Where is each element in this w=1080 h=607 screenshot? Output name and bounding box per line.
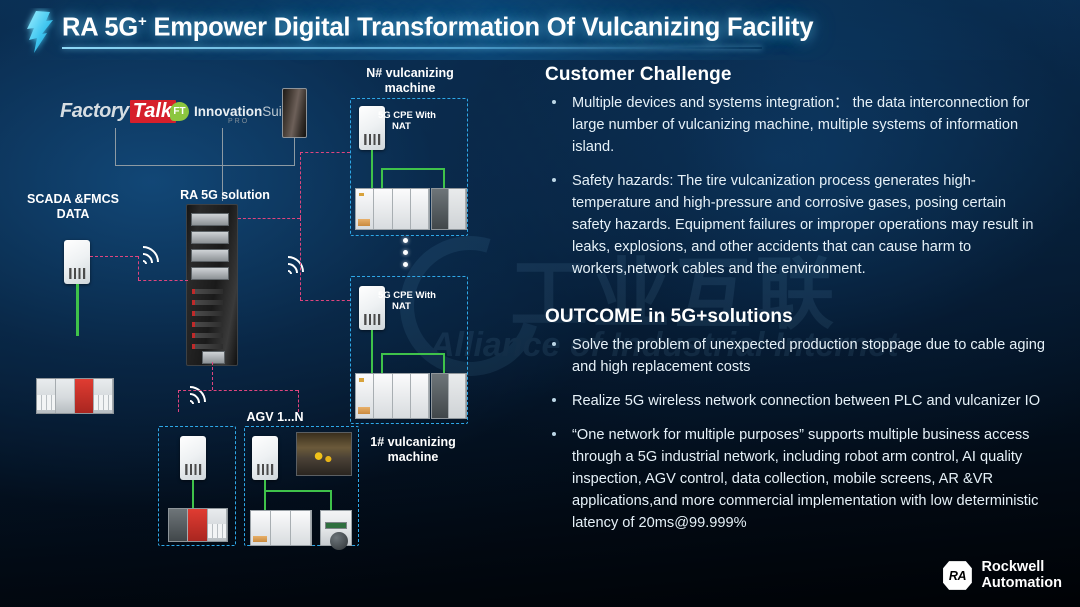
plc1-module-2 [374, 374, 392, 418]
bullet-text: Realize 5G wireless network connection b… [572, 393, 1040, 409]
rack-unit-4 [191, 267, 229, 280]
agv-1-cable [192, 480, 194, 510]
rockwell-mark-text: RA [949, 569, 966, 583]
rockwell-line2: Automation [981, 575, 1062, 591]
cpe-1-label-line1: 5G CPE With [378, 290, 436, 301]
drive-knob [330, 532, 348, 550]
vulcanizing-n-cable-v1 [371, 150, 373, 188]
rack-unit-1 [191, 213, 229, 226]
wireless-link-machines-h1 [238, 218, 300, 219]
rack-blade-1 [192, 289, 223, 294]
wireless-link-scada-h2 [138, 280, 188, 281]
scada-ethernet-cable [76, 284, 79, 336]
vulcanizing-n-io [431, 188, 467, 230]
wifi-arcs-scada [125, 236, 161, 270]
bullet-dot-icon [552, 398, 556, 402]
cpe-1-label: 5G CPE With NAT [378, 290, 468, 312]
factorytalk-factory-text: Factory [60, 100, 129, 122]
io1-segment-terminals [449, 374, 466, 418]
agvn-plc-module-2 [271, 511, 291, 545]
factorytalk-logo: FactoryTalk® [60, 100, 182, 123]
vulcanizing-1-io [431, 373, 467, 419]
controller-segment-1 [37, 379, 56, 413]
bullet-dot-icon [552, 178, 556, 182]
vulcanizing-n-line1: N# vulcanizing [366, 66, 454, 80]
vulcanizing-1-cable-v3 [443, 353, 445, 375]
io1-segment-dark [432, 374, 449, 418]
vulcanizing-1-cable-h [381, 353, 445, 355]
scada-label-line1: SCADA &FMCS [27, 192, 119, 206]
scada-fmcs-label: SCADA &FMCS DATA [8, 192, 138, 222]
agv-n-drive [320, 510, 352, 546]
rack-unit-2 [191, 231, 229, 244]
bullet-dot-icon [552, 342, 556, 346]
rack-blade-3 [192, 311, 223, 316]
agv-n-cable-v1 [264, 480, 266, 512]
wifi-a-arc-3 [167, 379, 212, 424]
outcome-list: Solve the problem of unexpected producti… [545, 334, 1045, 534]
vulcanizing-n-line2: machine [385, 81, 436, 95]
agvn-plc-module-1 [251, 511, 271, 545]
title-bar: RA 5G+ Empower Digital Transformation Of… [0, 0, 1080, 60]
controller-segment-3 [94, 379, 113, 413]
wifi-arc-3 [120, 239, 165, 284]
rack-blade-4 [192, 322, 223, 327]
connector-line-appliance-vertical [294, 138, 295, 166]
agv-photo [296, 432, 352, 476]
connector-line-ft-vertical [115, 128, 116, 166]
list-item: Multiple devices and systems integration… [545, 92, 1045, 158]
vulcanizing-n-cable-v2 [381, 168, 383, 190]
plc1-module-3 [393, 374, 411, 418]
vulcanizing-1-plc [355, 373, 430, 419]
scada-5g-cpe [64, 240, 90, 284]
ellipsis-dot-3 [403, 262, 408, 267]
wireless-link-agv-v2 [298, 390, 299, 412]
rack-unit-3 [191, 249, 229, 262]
ellipsis-dot-2 [403, 250, 408, 255]
machine-series-ellipsis [403, 238, 408, 274]
bullet-dot-icon [552, 100, 556, 104]
wireless-link-machines-h3 [300, 300, 350, 301]
section-spacer [545, 292, 1045, 306]
plc1-module-4 [411, 374, 429, 418]
vulcanizing-n-label: N# vulcanizing machine [345, 66, 475, 96]
innovationsuite-bold: Innovation [194, 104, 262, 119]
ra-5g-rack [186, 204, 238, 366]
agv1-io-terminals [208, 509, 227, 541]
bullet-text: “One network for multiple purposes” supp… [572, 427, 1038, 531]
content-column: Customer Challenge Multiple devices and … [545, 64, 1045, 546]
ft-badge-icon: FT [170, 102, 189, 121]
list-item: Realize 5G wireless network connection b… [545, 390, 1045, 412]
connector-line-is-vertical [222, 128, 223, 166]
plc1-terminal [358, 407, 370, 415]
io-segment-terminals [449, 189, 466, 229]
connector-line-horizontal [115, 165, 295, 166]
innovationsuite-label: InnovationSuite [194, 104, 293, 119]
rockwell-mark-icon: RA [942, 561, 972, 591]
drive-display [325, 522, 348, 529]
list-item: “One network for multiple purposes” supp… [545, 424, 1045, 534]
vulcanizing-1-label: 1# vulcanizing machine [348, 435, 478, 465]
plc-module-3 [393, 189, 411, 229]
wireless-link-machines-v2 [300, 218, 301, 300]
rockwell-line1: Rockwell [981, 559, 1044, 575]
agv-1-cpe [180, 436, 206, 480]
wireless-link-scada-h1 [90, 256, 138, 257]
page-title: RA 5G+ Empower Digital Transformation Of… [62, 13, 813, 43]
slide-root: RA 5G+ Empower Digital Transformation Of… [0, 0, 1080, 607]
list-item: Safety hazards: The tire vulcanization p… [545, 170, 1045, 280]
rack-blade-2 [192, 300, 223, 305]
rack-unit-bottom [202, 351, 225, 364]
wireless-link-machines-h2 [300, 152, 350, 153]
agv-1-io-block [168, 508, 228, 542]
bullet-text: Multiple devices and systems integration… [572, 95, 1030, 155]
controller-segment-2 [56, 379, 75, 413]
cpe-n-label: 5G CPE With NAT [378, 110, 468, 132]
agvn-plc-module-3 [291, 511, 311, 545]
plc-module-1 [356, 189, 374, 229]
plc1-module-1 [356, 374, 374, 418]
outcome-heading: OUTCOME in 5G+solutions [545, 306, 1045, 328]
vulcanizing-1-line2: machine [388, 450, 439, 464]
plc-terminal [358, 219, 370, 226]
rack-blade-5 [192, 333, 223, 338]
plc1-led [359, 378, 363, 382]
controller-segment-red [75, 379, 94, 413]
plc-module-2 [374, 189, 392, 229]
customer-challenge-heading: Customer Challenge [545, 64, 1045, 86]
cpe-n-label-line1: 5G CPE With [378, 110, 436, 121]
wireless-link-agv-v1 [178, 390, 179, 412]
scada-controller-block [36, 378, 114, 414]
agv1-io-red [188, 509, 207, 541]
rockwell-automation-logo: RA Rockwell Automation [942, 560, 1062, 591]
agvn-plc-terminal [253, 536, 266, 542]
vulcanizing-1-cable-v2 [381, 353, 383, 375]
vulcanizing-n-cable-h [381, 168, 445, 170]
ra-5g-solution-label: RA 5G solution [160, 188, 290, 203]
edge-server-appliance [282, 88, 307, 138]
list-item: Solve the problem of unexpected producti… [545, 334, 1045, 378]
vulcanizing-n-plc [355, 188, 430, 230]
rack-blade-6 [192, 344, 223, 349]
wireless-link-machines-v1 [300, 152, 301, 218]
bullet-text: Solve the problem of unexpected producti… [572, 337, 1045, 375]
agv-n-plc [250, 510, 312, 546]
ellipsis-dot-1 [403, 238, 408, 243]
ra-5g-glow-icon [20, 8, 60, 56]
innovationsuite-pro-label: PRO [228, 118, 249, 125]
cpe-1-label-line2: NAT [378, 301, 411, 312]
agv1-io-dark [169, 509, 188, 541]
title-underline [62, 47, 762, 49]
vulcanizing-n-cable-v3 [443, 168, 445, 190]
cpe-n-label-line2: NAT [378, 121, 411, 132]
wireless-link-agv-h1 [178, 390, 298, 391]
agv-label: AGV 1...N [215, 410, 335, 425]
agv-n-cpe [252, 436, 278, 480]
rockwell-wordmark: Rockwell Automation [981, 560, 1062, 591]
bullet-dot-icon [552, 432, 556, 436]
wifi-m-arc-3 [265, 249, 310, 294]
bullet-text: Safety hazards: The tire vulcanization p… [572, 173, 1034, 277]
architecture-diagram: FactoryTalk® FT InnovationSuite PRO RA 5… [0, 58, 545, 607]
io-segment-dark [432, 189, 449, 229]
wireless-link-scada-v [138, 256, 139, 280]
plc-module-4 [411, 189, 429, 229]
scada-label-line2: DATA [57, 207, 90, 221]
plc-led [359, 193, 363, 196]
vulcanizing-1-line1: 1# vulcanizing [370, 435, 455, 449]
wireless-link-agv-v0 [212, 362, 213, 390]
customer-challenge-list: Multiple devices and systems integration… [545, 92, 1045, 280]
agv-n-cable-h [264, 490, 332, 492]
vulcanizing-1-cable-v1 [371, 330, 373, 374]
